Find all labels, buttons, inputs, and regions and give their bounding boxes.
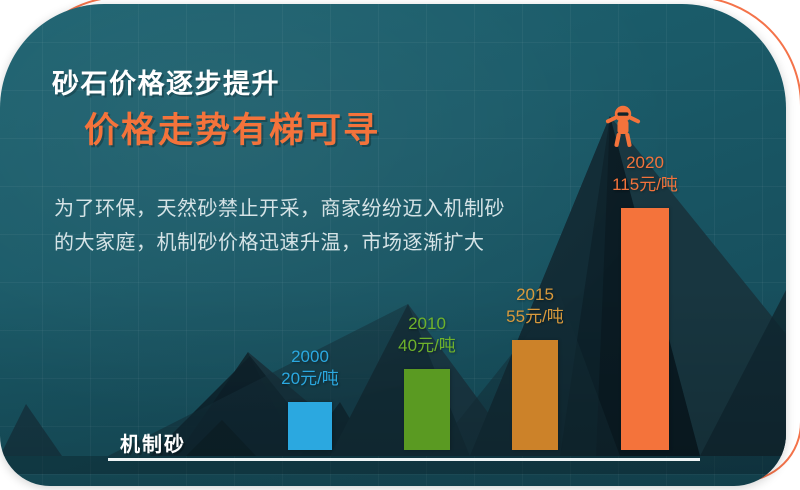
- bar-2010: 2010 40元/吨: [404, 160, 450, 450]
- infographic-poster: 砂石价格逐步提升 价格走势有梯可寻 为了环保，天然砂禁止开采，商家纷纷迈入机制砂…: [0, 0, 800, 490]
- bar-label-2010: 2010 40元/吨: [398, 313, 456, 357]
- bar-label-2000: 2000 20元/吨: [281, 346, 339, 390]
- bar-value-2010: 40元/吨: [398, 335, 456, 357]
- bar-2020: 2020 115元/吨: [621, 110, 669, 450]
- bar-rect-2000: [288, 402, 332, 450]
- bar-value-2020: 115元/吨: [612, 174, 678, 196]
- bar-year-2020: 2020: [612, 152, 678, 174]
- bar-rect-2015: [512, 340, 558, 450]
- chart-baseline-axis: [108, 458, 700, 461]
- bar-year-2000: 2000: [281, 346, 339, 368]
- bar-2015: 2015 55元/吨: [512, 130, 558, 450]
- axis-category-label: 机制砂: [120, 428, 186, 457]
- bar-rect-2010: [404, 369, 450, 450]
- page-subtitle: 价格走势有梯可寻: [84, 102, 380, 153]
- page-title: 砂石价格逐步提升: [52, 62, 280, 101]
- bar-rect-2020: [621, 208, 669, 450]
- bar-value-2015: 55元/吨: [506, 306, 564, 328]
- bar-label-2020: 2020 115元/吨: [612, 152, 678, 196]
- poster-card: 砂石价格逐步提升 价格走势有梯可寻 为了环保，天然砂禁止开采，商家纷纷迈入机制砂…: [0, 4, 786, 486]
- bar-2000: 2000 20元/吨: [288, 190, 332, 450]
- bar-year-2010: 2010: [398, 313, 456, 335]
- bar-year-2015: 2015: [506, 284, 564, 306]
- bar-value-2000: 20元/吨: [281, 368, 339, 390]
- bar-label-2015: 2015 55元/吨: [506, 284, 564, 328]
